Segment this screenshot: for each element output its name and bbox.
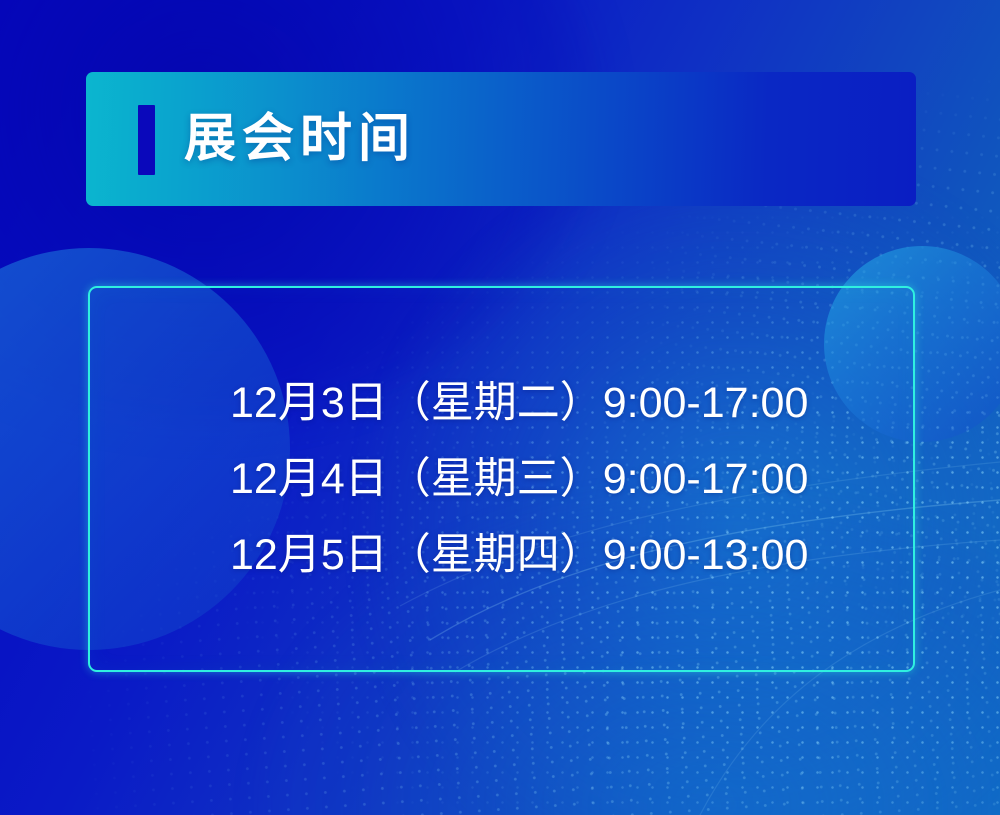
- section-header-banner: 展会时间: [86, 72, 916, 206]
- schedule-item-3: 12月5日（星期四）9:00-13:00: [230, 517, 913, 593]
- schedule-card: 12月3日（星期二）9:00-17:00 12月4日（星期三）9:00-17:0…: [88, 286, 915, 672]
- poster-canvas: 展会时间 12月3日（星期二）9:00-17:00 12月4日（星期三）9:00…: [0, 0, 1000, 815]
- page-title: 展会时间: [184, 100, 416, 178]
- schedule-item-1: 12月3日（星期二）9:00-17:00: [230, 365, 913, 441]
- schedule-item-2: 12月4日（星期三）9:00-17:00: [230, 441, 913, 517]
- accent-bar: [138, 105, 155, 175]
- schedule-list: 12月3日（星期二）9:00-17:00 12月4日（星期三）9:00-17:0…: [90, 288, 913, 670]
